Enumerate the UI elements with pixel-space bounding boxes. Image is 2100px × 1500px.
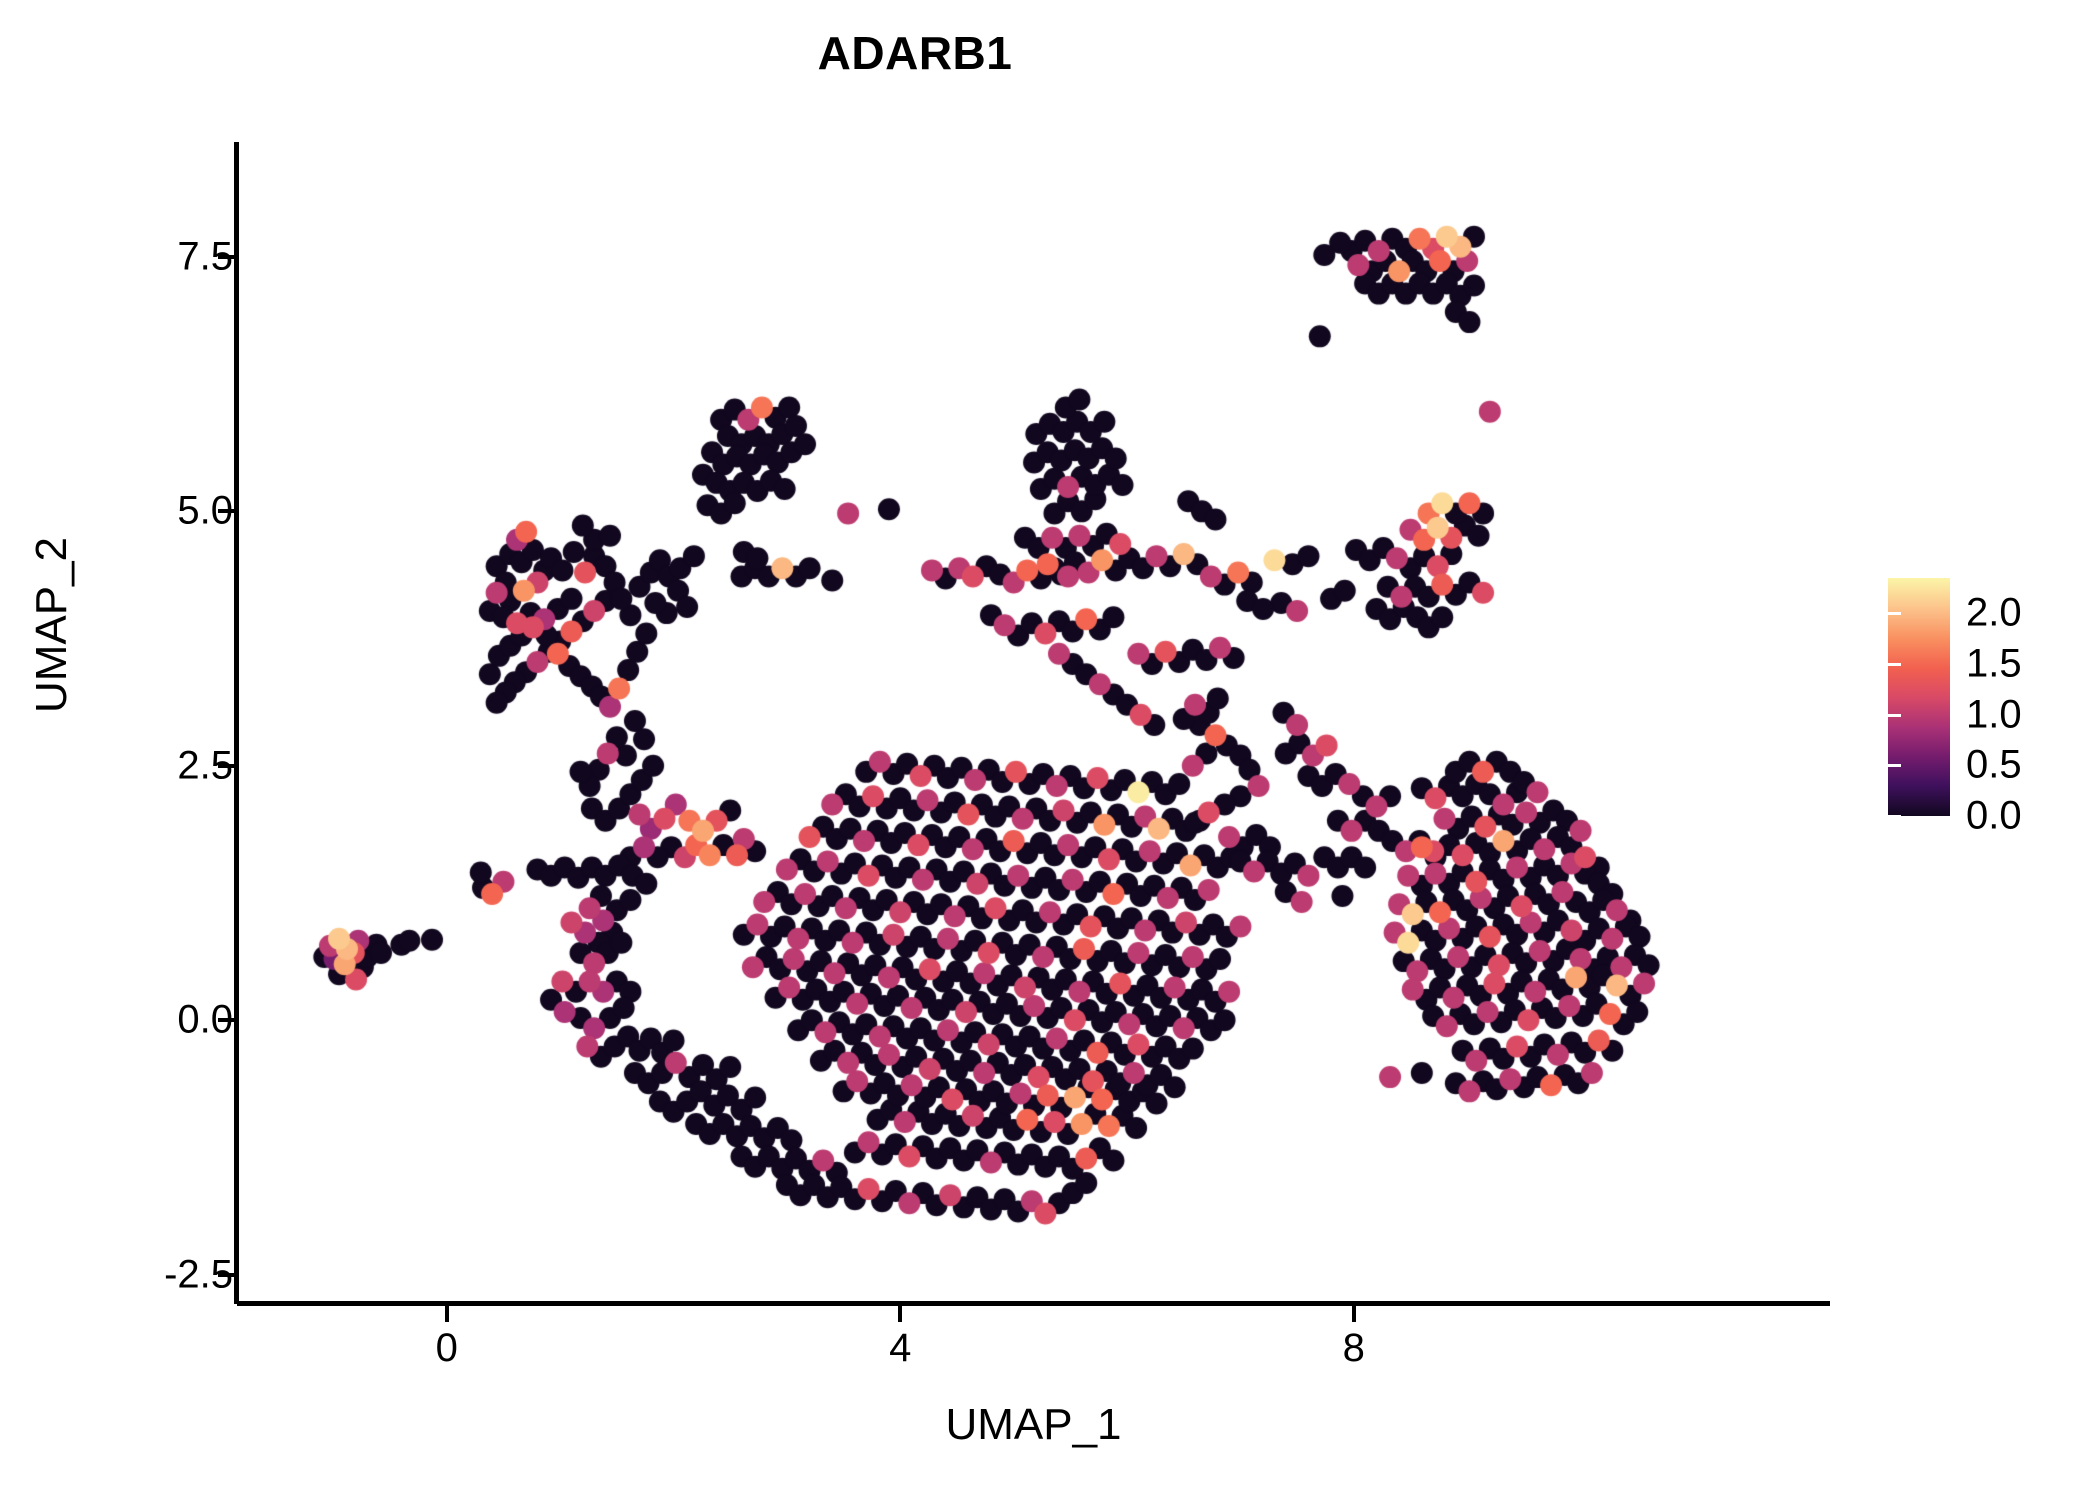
colorbar-tick-label: 1.5: [1966, 642, 2022, 687]
x-tick-label: 0: [436, 1326, 458, 1371]
y-tick-label: -2.5: [164, 1252, 233, 1297]
colorbar-tick-mark: [1888, 663, 1901, 666]
colorbar-tick-label: 1.0: [1966, 692, 2022, 737]
x-axis-line: [237, 1301, 1830, 1306]
plot-panel: [237, 142, 1830, 1303]
umap-feature-plot: ADARB1 048 -2.50.02.55.07.5 UMAP_1 UMAP_…: [0, 0, 2100, 1500]
scatter-points-canvas: [237, 142, 1830, 1303]
colorbar-tick-mark: [2075, 612, 2088, 615]
colorbar-tick-label: 2.0: [1966, 591, 2022, 636]
colorbar-tick-mark: [2075, 815, 2088, 818]
x-tick-mark: [445, 1306, 449, 1322]
y-axis-title: UMAP_2: [27, 325, 77, 925]
y-tick-label: 5.0: [177, 489, 233, 534]
colorbar-tick-mark: [2075, 714, 2088, 717]
colorbar-tick-label: 0.5: [1966, 743, 2022, 788]
x-tick-mark: [898, 1306, 902, 1322]
colorbar-tick-mark: [1888, 714, 1901, 717]
page-title: ADARB1: [0, 26, 1830, 80]
colorbar-tick-mark: [2075, 764, 2088, 767]
colorbar-tick-mark: [1888, 612, 1901, 615]
colorbar-tick-label: 0.0: [1966, 794, 2022, 839]
x-tick-label: 4: [889, 1326, 911, 1371]
colorbar-tick-mark: [2075, 663, 2088, 666]
x-tick-label: 8: [1343, 1326, 1365, 1371]
y-axis-line: [234, 142, 239, 1304]
x-tick-mark: [1352, 1306, 1356, 1322]
x-axis-title: UMAP_1: [237, 1400, 1830, 1450]
colorbar-tick-mark: [1888, 815, 1901, 818]
y-tick-label: 7.5: [177, 234, 233, 279]
y-tick-label: 0.0: [177, 998, 233, 1043]
colorbar-tick-mark: [1888, 764, 1901, 767]
y-tick-label: 2.5: [177, 743, 233, 788]
colorbar-legend: 0.00.51.01.52.0: [1888, 578, 2088, 818]
